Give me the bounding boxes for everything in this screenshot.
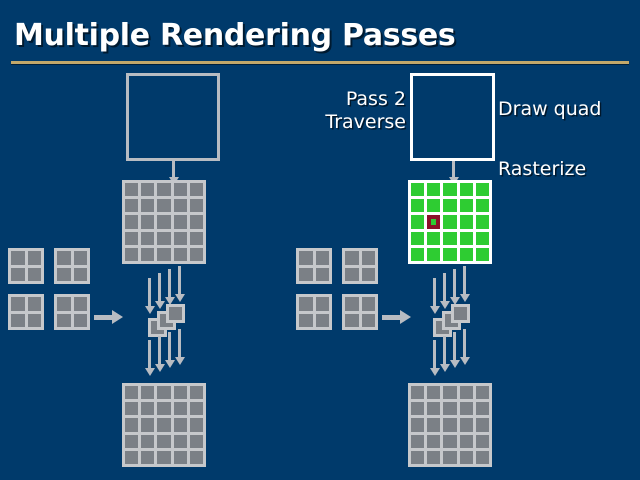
left-cluster-feed-arrow (94, 310, 123, 325)
pixel-cell (174, 451, 187, 464)
pixel-cell (411, 232, 424, 245)
pixel-cell (443, 183, 456, 196)
pixel-cell (190, 418, 203, 431)
quad-block (54, 248, 90, 284)
pixel-cell (411, 248, 424, 261)
pixel-cell (460, 386, 473, 399)
quad-subpixel (11, 314, 25, 328)
pixel-cell (427, 386, 440, 399)
quad-subpixel (362, 297, 376, 311)
right-top-pixel-grid (408, 180, 492, 264)
pixel-cell (411, 215, 424, 228)
pixel-cell (460, 402, 473, 415)
quad-subpixel (345, 297, 359, 311)
pixel-cell (157, 215, 170, 228)
slide-canvas: Multiple Rendering Passes (0, 0, 640, 480)
right-quad-cluster (296, 248, 378, 330)
pixel-cell (125, 418, 138, 431)
quad-subpixel (316, 251, 330, 265)
pixel-cell (476, 402, 489, 415)
pass-label-line2: Traverse (325, 111, 406, 133)
pixel-cell (157, 435, 170, 448)
pixel-cell (141, 418, 154, 431)
pixel-cell (141, 402, 154, 415)
pixel-cell (443, 232, 456, 245)
pixel-cell (174, 232, 187, 245)
pixel-cell (476, 451, 489, 464)
pixel-cell (125, 435, 138, 448)
pixel-cell (443, 451, 456, 464)
quad-subpixel (345, 251, 359, 265)
pixel-cell (427, 183, 440, 196)
pixel-cell (125, 402, 138, 415)
pixel-cell (476, 248, 489, 261)
pixel-cell (443, 435, 456, 448)
left-quad-cluster (8, 248, 90, 330)
pixel-cell (460, 451, 473, 464)
pixel-cell (411, 435, 424, 448)
pixel-cell (460, 232, 473, 245)
pixel-cell (460, 418, 473, 431)
pixel-cell (141, 199, 154, 212)
quad-subpixel (299, 268, 313, 282)
quad-subpixel (345, 268, 359, 282)
pixel-cell (190, 232, 203, 245)
quad-block (8, 294, 44, 330)
pixel-cell (141, 232, 154, 245)
pixel-cell (125, 215, 138, 228)
quad-block (8, 248, 44, 284)
quad-subpixel (57, 314, 71, 328)
pixel-cell (460, 199, 473, 212)
pixel-cell (141, 435, 154, 448)
pixel-cell (411, 402, 424, 415)
pixel-cell (174, 418, 187, 431)
pixel-cell (443, 215, 456, 228)
pixel-cell (476, 435, 489, 448)
pixel-cell (427, 451, 440, 464)
quad-subpixel (316, 297, 330, 311)
pixel-cell (427, 248, 440, 261)
quad-subpixel (11, 297, 25, 311)
quad-subpixel (362, 268, 376, 282)
pixel-cell (141, 183, 154, 196)
quad-subpixel (28, 314, 42, 328)
quad-subpixel (74, 251, 88, 265)
page-title: Multiple Rendering Passes (14, 18, 456, 53)
pixel-cell (460, 435, 473, 448)
pixel-cell (460, 248, 473, 261)
quad-block (54, 294, 90, 330)
quad-subpixel (28, 268, 42, 282)
right-cluster-feed-arrow (382, 310, 411, 325)
left-geometry-box (126, 73, 220, 161)
quad-subpixel (362, 251, 376, 265)
pass-label: Pass 2Traverse (280, 88, 406, 134)
pixel-cell (174, 435, 187, 448)
pixel-cell (174, 215, 187, 228)
pixel-cell (141, 386, 154, 399)
pixel-cell (174, 199, 187, 212)
pixel-cell (427, 402, 440, 415)
quad-subpixel (57, 297, 71, 311)
pixel-cell (141, 451, 154, 464)
pixel-cell (460, 215, 473, 228)
pixel-cell (125, 183, 138, 196)
pixel-cell (125, 386, 138, 399)
quad-block (342, 294, 378, 330)
pixel-cell (411, 386, 424, 399)
pixel-cell (157, 248, 170, 261)
pixel-cell (427, 199, 440, 212)
pixel-cell (190, 435, 203, 448)
pass-label-line1: Pass 2 (346, 88, 406, 110)
pixel-cell (174, 183, 187, 196)
pixel-cell (460, 183, 473, 196)
quad-subpixel (299, 314, 313, 328)
pixel-cell (476, 215, 489, 228)
quad-subpixel (316, 268, 330, 282)
pixel-cell (190, 199, 203, 212)
pixel-cell (157, 183, 170, 196)
pixel-cell (476, 199, 489, 212)
pixel-cell (174, 386, 187, 399)
quad-subpixel (74, 314, 88, 328)
quad-subpixel (28, 251, 42, 265)
pixel-cell (190, 386, 203, 399)
pixel-cell (411, 199, 424, 212)
pixel-cell (443, 402, 456, 415)
quad-subpixel (11, 268, 25, 282)
highlighted-pixel-cell (427, 215, 440, 228)
quad-block (296, 248, 332, 284)
quad-subpixel (11, 251, 25, 265)
pixel-cell (476, 418, 489, 431)
right-fragment (451, 304, 470, 323)
pixel-cell (476, 232, 489, 245)
pixel-cell (157, 418, 170, 431)
pixel-cell (443, 418, 456, 431)
quad-subpixel (316, 314, 330, 328)
pixel-cell (125, 232, 138, 245)
draw-quad-label: Draw quad (498, 98, 601, 121)
pixel-cell (411, 183, 424, 196)
right-geometry-box (410, 73, 495, 161)
pixel-cell (125, 451, 138, 464)
pixel-cell (125, 199, 138, 212)
left-fragment (166, 304, 185, 323)
pixel-cell (190, 215, 203, 228)
quad-subpixel (57, 268, 71, 282)
pixel-cell (443, 199, 456, 212)
pixel-cell (157, 232, 170, 245)
quad-block (342, 248, 378, 284)
pixel-cell (141, 215, 154, 228)
pixel-cell (157, 386, 170, 399)
pixel-cell (476, 386, 489, 399)
pixel-cell (190, 183, 203, 196)
pixel-cell (141, 248, 154, 261)
quad-subpixel (345, 314, 359, 328)
pixel-cell (443, 248, 456, 261)
quad-subpixel (28, 297, 42, 311)
title-divider (11, 61, 629, 64)
quad-subpixel (57, 251, 71, 265)
pixel-cell (190, 402, 203, 415)
pixel-cell (157, 199, 170, 212)
left-bottom-pixel-grid (122, 383, 206, 467)
quad-subpixel (299, 251, 313, 265)
pixel-cell (427, 418, 440, 431)
quad-block (296, 294, 332, 330)
quad-subpixel (74, 268, 88, 282)
pixel-cell (411, 451, 424, 464)
quad-subpixel (299, 297, 313, 311)
quad-subpixel (74, 297, 88, 311)
pixel-cell (190, 451, 203, 464)
pixel-cell (427, 232, 440, 245)
right-bottom-pixel-grid (408, 383, 492, 467)
pixel-cell (411, 418, 424, 431)
pixel-cell (157, 451, 170, 464)
quad-subpixel (362, 314, 376, 328)
pixel-cell (190, 248, 203, 261)
pixel-cell (476, 183, 489, 196)
pixel-cell (443, 386, 456, 399)
pixel-cell (427, 435, 440, 448)
pixel-cell (174, 402, 187, 415)
pixel-cell (174, 248, 187, 261)
rasterize-label: Rasterize (498, 158, 586, 181)
pixel-cell (157, 402, 170, 415)
pixel-cell (125, 248, 138, 261)
left-top-pixel-grid (122, 180, 206, 264)
